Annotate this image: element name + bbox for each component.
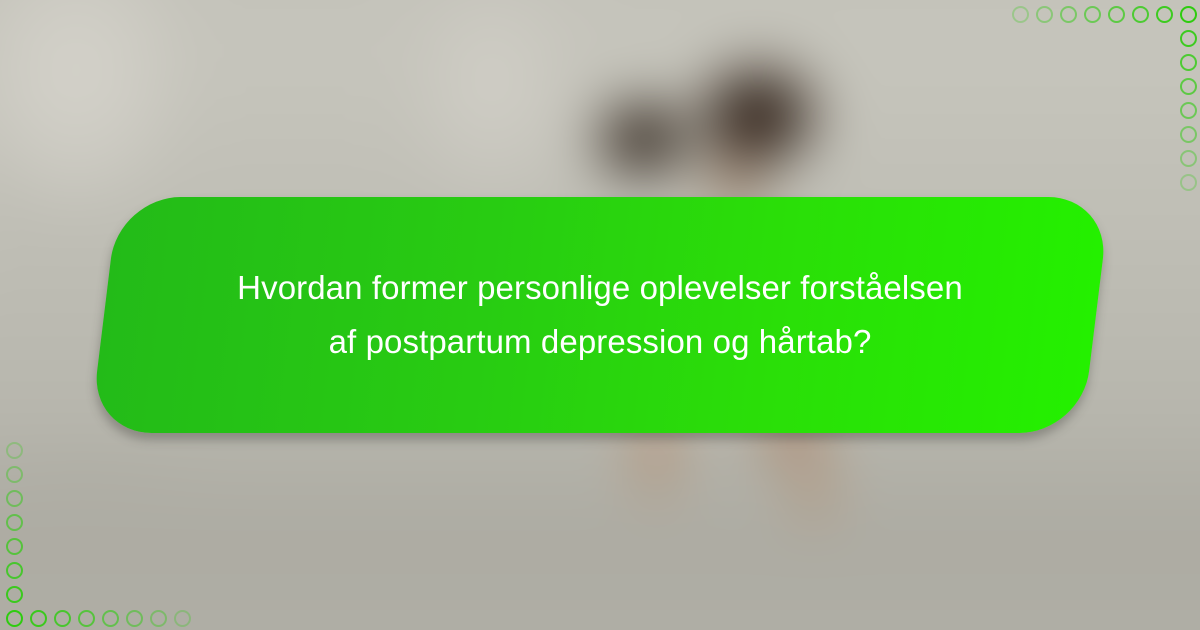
question-banner: Hvordan former personlige oplevelser for… <box>104 197 1096 433</box>
social-card: Hvordan former personlige oplevelser for… <box>0 0 1200 630</box>
question-line-1: Hvordan former personlige oplevelser for… <box>237 266 963 310</box>
question-banner-text: Hvordan former personlige oplevelser for… <box>104 197 1096 433</box>
question-line-2: af postpartum depression og hårtab? <box>329 320 872 364</box>
